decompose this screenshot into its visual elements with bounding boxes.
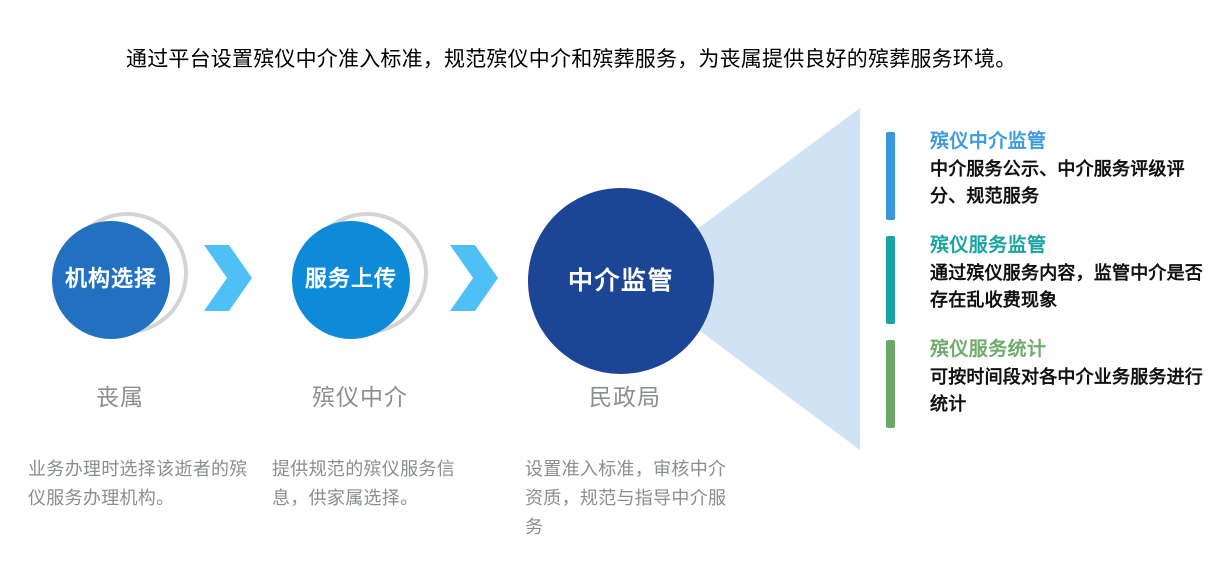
- role-description-civil-affairs-bureau: 设置准入标准，审核中介资质，规范与指导中介服务: [525, 455, 740, 542]
- feature-title: 殡仪服务监管: [930, 232, 1206, 258]
- role-description-family: 业务办理时选择该逝者的殡仪服务办理机构。: [28, 455, 253, 513]
- role-label-civil-affairs-bureau: 民政局: [553, 378, 697, 412]
- role-description-agency: 提供规范的殡仪服务信息，供家属选择。: [272, 455, 487, 513]
- feature-body: 通过殡仪服务内容，监管中介是否存在乱收费现象: [930, 260, 1206, 314]
- feature-body: 可按时间段对各中介业务服务进行统计: [930, 364, 1206, 418]
- feature-item-service-supervision[interactable]: 殡仪服务监管 通过殡仪服务内容，监管中介是否存在乱收费现象: [886, 232, 1206, 314]
- node-circle-label: 中介监管: [528, 188, 714, 374]
- diagram-canvas: 通过平台设置殡仪中介准入标准，规范殡仪中介和殡葬服务，为丧属提供良好的殡葬服务环…: [0, 0, 1228, 575]
- role-label-agency: 殡仪中介: [288, 378, 432, 412]
- flow-node-agency-supervision[interactable]: 中介监管: [528, 188, 718, 378]
- feature-accent-bar: [886, 236, 895, 324]
- feature-item-service-statistics[interactable]: 殡仪服务统计 可按时间段对各中介业务服务进行统计: [886, 336, 1206, 418]
- chevron-right-icon: [204, 245, 252, 311]
- feature-list: 殡仪中介监管 中介服务公示、中介服务评级评分、规范服务 殡仪服务监管 通过殡仪服…: [886, 128, 1206, 440]
- node-circle-label: 服务上传: [292, 221, 410, 339]
- feature-title: 殡仪中介监管: [930, 128, 1206, 154]
- feature-accent-bar: [886, 340, 895, 428]
- chevron-right-icon: [450, 245, 498, 311]
- feature-body: 中介服务公示、中介服务评级评分、规范服务: [930, 156, 1206, 210]
- flow-node-service-upload[interactable]: 服务上传: [292, 208, 428, 348]
- feature-accent-bar: [886, 132, 895, 220]
- role-label-family: 丧属: [50, 378, 190, 412]
- feature-title: 殡仪服务统计: [930, 336, 1206, 362]
- flow-node-organization-select[interactable]: 机构选择: [52, 208, 188, 348]
- node-circle-label: 机构选择: [52, 221, 170, 339]
- feature-item-agency-supervision[interactable]: 殡仪中介监管 中介服务公示、中介服务评级评分、规范服务: [886, 128, 1206, 210]
